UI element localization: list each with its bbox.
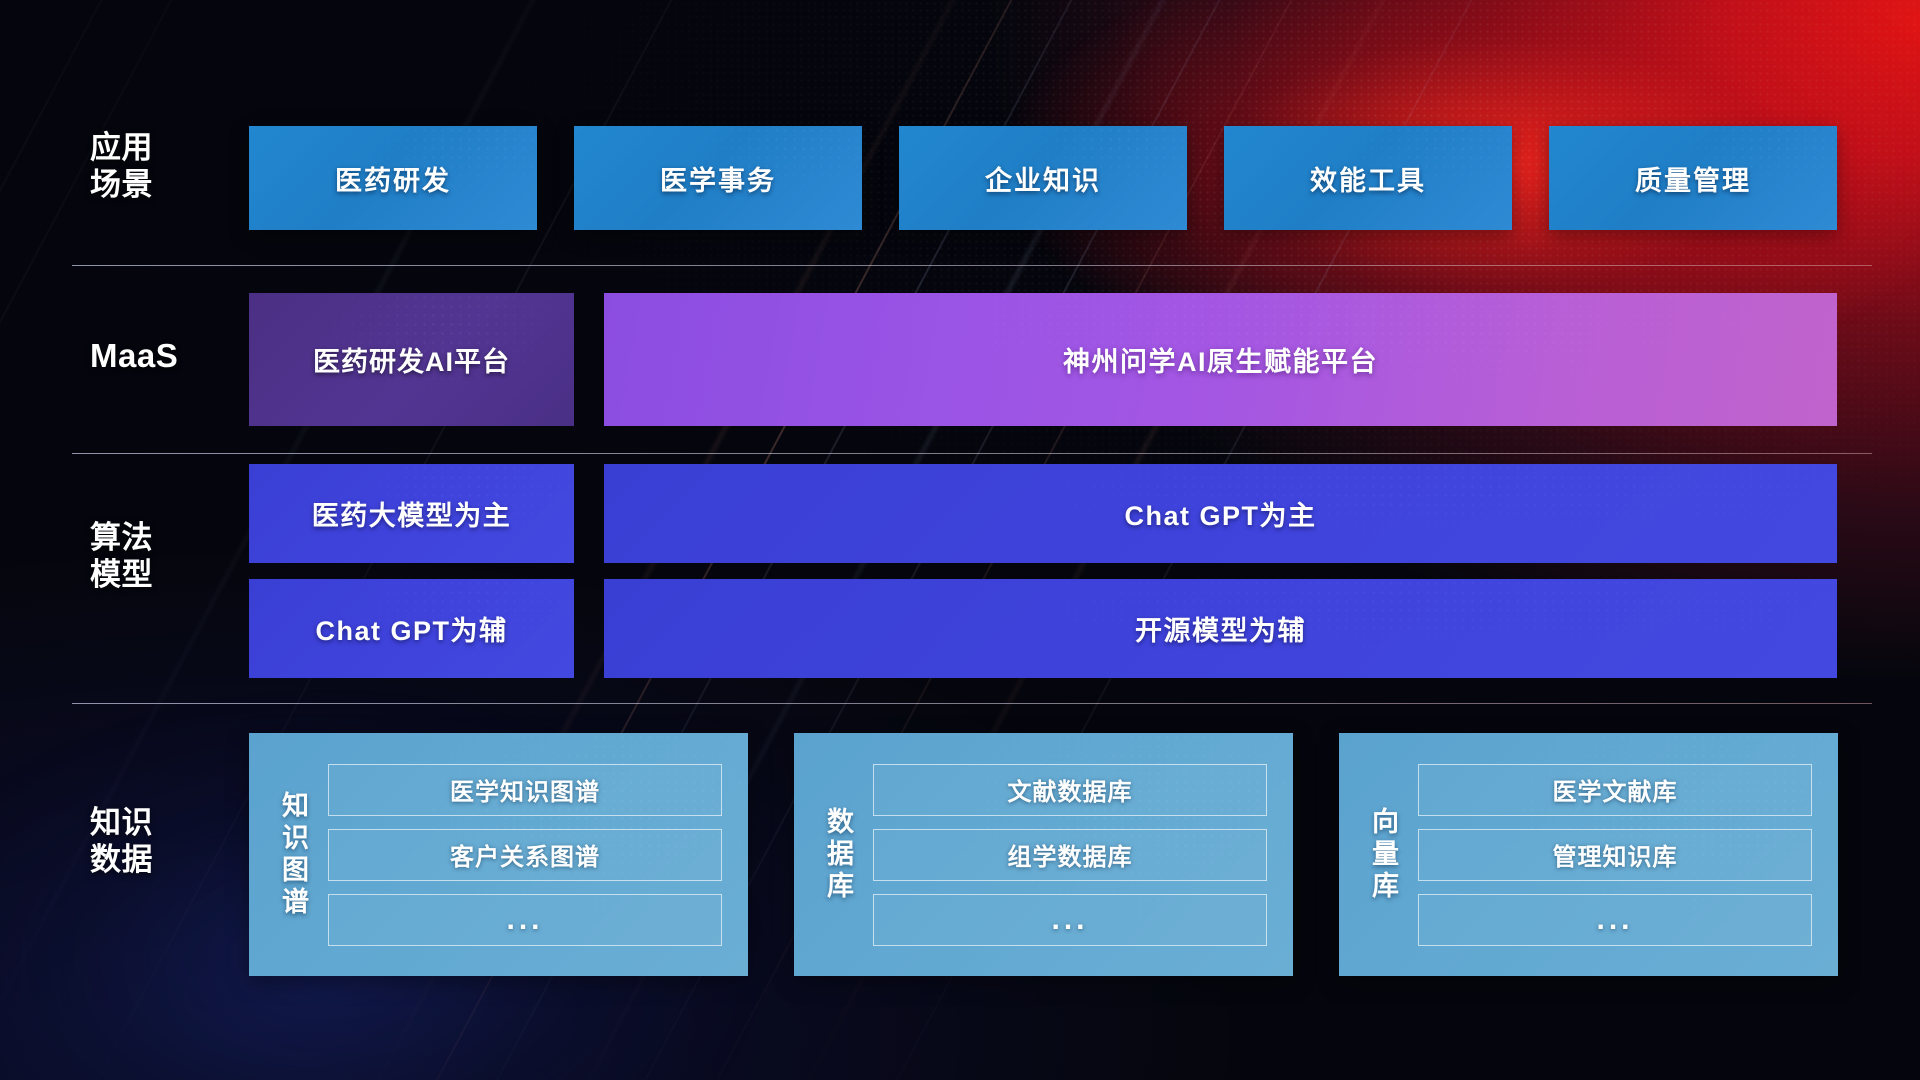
alg-box-label: 开源模型为辅 bbox=[1135, 609, 1306, 648]
alg-box-medicine-large-model-primary[interactable]: 医药大模型为主 bbox=[249, 464, 574, 563]
app-box-efficiency-tools[interactable]: 效能工具 bbox=[1224, 126, 1512, 230]
maas-box-label: 医药研发AI平台 bbox=[313, 340, 510, 379]
alg-box-label: Chat GPT为主 bbox=[1124, 494, 1316, 533]
app-box-label: 效能工具 bbox=[1310, 159, 1426, 198]
knowledge-panel-vertical-label: 数据库 bbox=[824, 807, 851, 903]
knowledge-panel-items: 医学知识图谱 客户关系图谱 ... bbox=[328, 764, 722, 946]
row-label-knowledge-line-2: 数据 bbox=[90, 842, 240, 879]
row-label-maas: MaaS bbox=[90, 337, 240, 376]
maas-box-medicine-ai-platform[interactable]: 医药研发AI平台 bbox=[249, 293, 574, 426]
maas-box-shenzhou-wenxue-platform[interactable]: 神州问学AI原生赋能平台 bbox=[604, 293, 1837, 426]
app-box-enterprise-knowledge[interactable]: 企业知识 bbox=[899, 126, 1187, 230]
architecture-diagram: 应用 场景 医药研发 医学事务 企业知识 效能工具 质量管理 MaaS 医药研发… bbox=[0, 0, 1920, 1080]
row-maas: MaaS 医药研发AI平台 神州问学AI原生赋能平台 bbox=[0, 293, 1920, 426]
knowledge-panel-database[interactable]: 数据库 文献数据库 组学数据库 ... bbox=[794, 733, 1293, 976]
knowledge-panel-items: 文献数据库 组学数据库 ... bbox=[873, 764, 1267, 946]
knowledge-item[interactable]: 客户关系图谱 bbox=[328, 829, 722, 881]
alg-box-label: 医药大模型为主 bbox=[312, 494, 512, 533]
knowledge-panel-vertical-label: 知识图谱 bbox=[279, 791, 306, 919]
knowledge-panel-vertical-label: 向量库 bbox=[1369, 807, 1396, 903]
row-knowledge-data: 知识 数据 知识图谱 医学知识图谱 客户关系图谱 ... 数据库 文献数据库 组… bbox=[0, 733, 1920, 976]
knowledge-item[interactable]: 组学数据库 bbox=[873, 829, 1267, 881]
knowledge-item[interactable]: 文献数据库 bbox=[873, 764, 1267, 816]
maas-wide-label: 神州问学AI原生赋能平台 bbox=[1063, 340, 1378, 379]
app-box-label: 医学事务 bbox=[660, 159, 776, 198]
divider-after-application bbox=[72, 265, 1872, 266]
row-label-algorithm-line-1: 算法 bbox=[90, 520, 240, 557]
knowledge-panel-items: 医学文献库 管理知识库 ... bbox=[1418, 764, 1812, 946]
row-label-knowledge: 知识 数据 bbox=[90, 805, 240, 878]
knowledge-item[interactable]: 医学知识图谱 bbox=[328, 764, 722, 816]
app-box-medical-affairs[interactable]: 医学事务 bbox=[574, 126, 862, 230]
knowledge-item-more[interactable]: ... bbox=[1418, 894, 1812, 946]
row-label-algorithm: 算法 模型 bbox=[90, 520, 240, 593]
row-label-application: 应用 场景 bbox=[90, 130, 240, 203]
knowledge-item[interactable]: 医学文献库 bbox=[1418, 764, 1812, 816]
knowledge-item-more[interactable]: ... bbox=[328, 894, 722, 946]
alg-box-chatgpt-secondary[interactable]: Chat GPT为辅 bbox=[249, 579, 574, 678]
divider-after-algorithm bbox=[72, 703, 1872, 704]
knowledge-item[interactable]: 管理知识库 bbox=[1418, 829, 1812, 881]
app-box-quality-management[interactable]: 质量管理 bbox=[1549, 126, 1837, 230]
app-box-label: 医药研发 bbox=[335, 159, 451, 198]
divider-after-maas bbox=[72, 453, 1872, 454]
alg-box-opensource-secondary[interactable]: 开源模型为辅 bbox=[604, 579, 1837, 678]
app-box-label: 企业知识 bbox=[985, 159, 1101, 198]
row-application-scenarios: 应用 场景 医药研发 医学事务 企业知识 效能工具 质量管理 bbox=[0, 126, 1920, 230]
row-algorithm-models: 算法 模型 医药大模型为主 Chat GPT为辅 Chat GPT为主 开源模型… bbox=[0, 464, 1920, 695]
row-label-application-line-1: 应用 bbox=[90, 130, 240, 167]
knowledge-panel-knowledge-graph[interactable]: 知识图谱 医学知识图谱 客户关系图谱 ... bbox=[249, 733, 748, 976]
alg-box-label: Chat GPT为辅 bbox=[315, 609, 507, 648]
row-label-algorithm-line-2: 模型 bbox=[90, 557, 240, 594]
app-box-label: 质量管理 bbox=[1635, 159, 1751, 198]
knowledge-item-more[interactable]: ... bbox=[873, 894, 1267, 946]
row-label-maas-line-1: MaaS bbox=[90, 337, 240, 376]
knowledge-panel-vector-store[interactable]: 向量库 医学文献库 管理知识库 ... bbox=[1339, 733, 1838, 976]
alg-box-chatgpt-primary[interactable]: Chat GPT为主 bbox=[604, 464, 1837, 563]
row-label-application-line-2: 场景 bbox=[90, 167, 240, 204]
app-box-medicine-rd[interactable]: 医药研发 bbox=[249, 126, 537, 230]
row-label-knowledge-line-1: 知识 bbox=[90, 805, 240, 842]
